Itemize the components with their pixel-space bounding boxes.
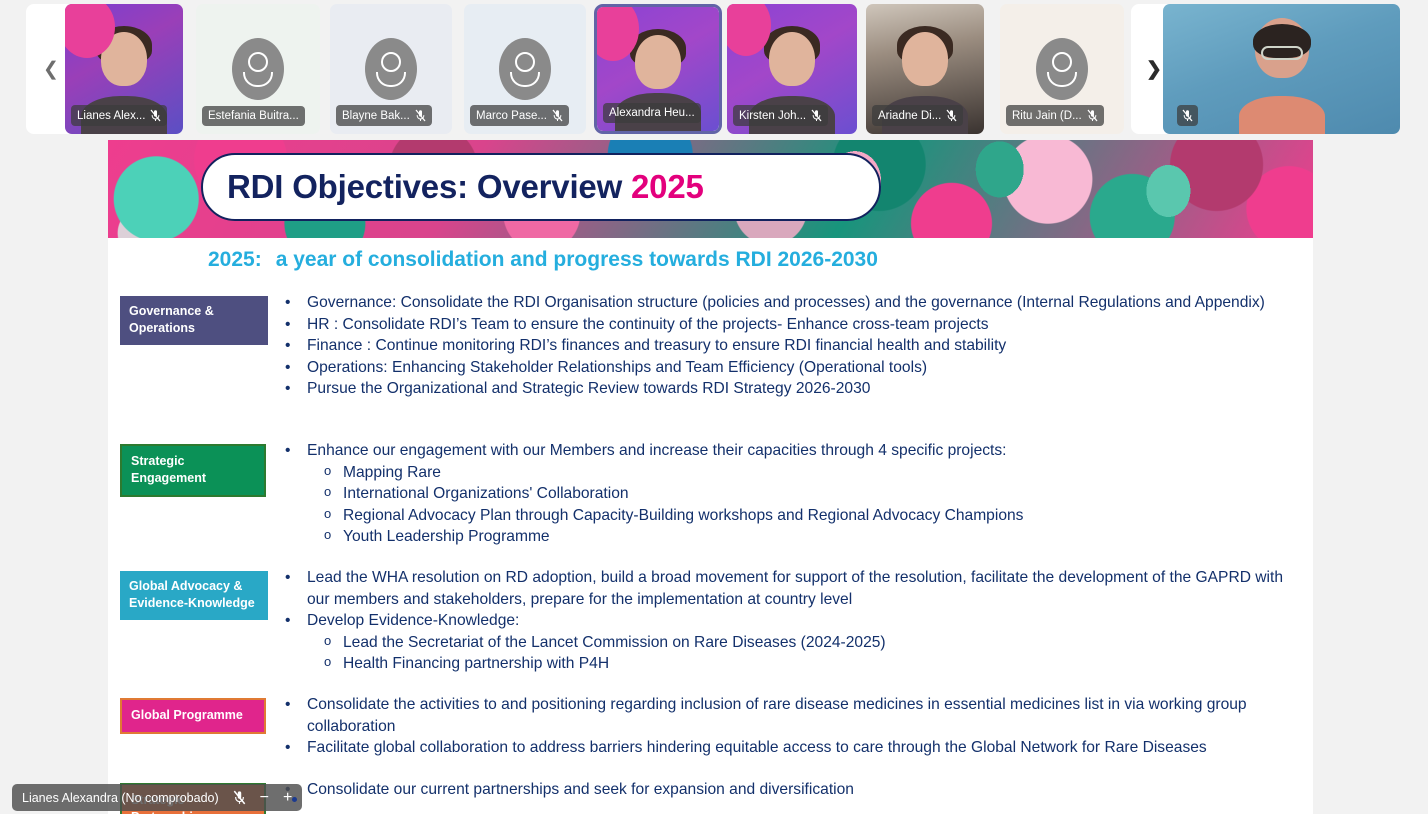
participant-name: Ritu Jain (D...: [1012, 110, 1082, 122]
bullet-item: •Operations: Enhancing Stakeholder Relat…: [281, 357, 1293, 379]
subtitle-text: a year of consolidation and progress tow…: [276, 248, 878, 272]
bullet-item: •HR : Consolidate RDI’s Team to ensure t…: [281, 314, 1293, 336]
overlay-participant-name: Lianes Alexandra (No comprobado): [22, 791, 219, 805]
bullet-marker: •: [281, 335, 307, 357]
slide-section: Global Programme•Consolidate the activit…: [108, 682, 1313, 767]
section-tag-label: Global Programme: [120, 698, 266, 734]
bullet-item: •Consolidate our current partnerships an…: [281, 779, 1293, 801]
participant-tile[interactable]: Alexandra Heu...: [594, 4, 722, 134]
participant-name-badge: Ariadne Di...: [872, 105, 963, 126]
bullet-text: International Organizations' Collaborati…: [343, 483, 1293, 505]
bullet-marker: •: [281, 610, 307, 632]
bullet-item: •Lead the WHA resolution on RD adoption,…: [281, 567, 1293, 610]
section-bullet-list: •Consolidate our current partnerships an…: [281, 767, 1313, 814]
mic-off-icon: [1182, 109, 1193, 122]
person-icon: [365, 38, 417, 100]
mic-off-icon: [415, 109, 426, 122]
bullet-item: •Finance : Continue monitoring RDI’s fin…: [281, 335, 1293, 357]
participant-name: Kirsten Joh...: [739, 110, 806, 122]
section-bullet-list: •Governance: Consolidate the RDI Organis…: [281, 280, 1313, 428]
bullet-text: Finance : Continue monitoring RDI’s fina…: [307, 335, 1293, 357]
bullet-item: oMapping Rare: [281, 462, 1293, 484]
person-icon: [1036, 38, 1088, 100]
mic-off-icon: [1087, 109, 1098, 122]
bullet-marker: •: [281, 378, 307, 400]
section-tag-label: Global Advocacy & Evidence-Knowledge: [120, 571, 268, 620]
participant-name-badge: Lianes Alex...: [71, 105, 167, 126]
bullet-text: Facilitate global collaboration to addre…: [307, 737, 1293, 759]
bullet-text: Consolidate the activities to and positi…: [307, 694, 1293, 737]
bullet-marker: o: [320, 632, 343, 654]
slide-title-card: RDI Objectives: Overview 2025: [201, 153, 881, 221]
participant-name: Marco Pase...: [476, 110, 547, 122]
participant-face: [902, 32, 948, 86]
bullet-marker: o: [320, 653, 343, 675]
bullet-marker: o: [320, 526, 343, 548]
participant-name: Lianes Alex...: [77, 110, 145, 122]
section-bullet-list: •Consolidate the activities to and posit…: [281, 682, 1313, 767]
bullet-item: oInternational Organizations' Collaborat…: [281, 483, 1293, 505]
mic-off-icon: [811, 109, 822, 122]
featured-video-feed: [1163, 4, 1400, 134]
participant-name-badge: Marco Pase...: [470, 105, 569, 126]
participant-face: [769, 32, 815, 86]
bullet-item: oHealth Financing partnership with P4H: [281, 653, 1293, 675]
participant-tile[interactable]: Ritu Jain (D...: [1000, 4, 1124, 134]
participant-tile[interactable]: Blayne Bak...: [330, 4, 452, 134]
page-title: RDI Objectives: Overview 2025: [227, 168, 704, 206]
slide-section: Strategic Engagement•Enhance our engagem…: [108, 428, 1313, 555]
section-tag-column: Global Advocacy & Evidence-Knowledge: [108, 555, 281, 682]
section-tag-column: Governance & Operations: [108, 280, 281, 428]
bullet-text: HR : Consolidate RDI’s Team to ensure th…: [307, 314, 1293, 336]
participant-name-badge: Estefania Buitra...: [202, 106, 305, 126]
featured-participant-tile[interactable]: [1163, 4, 1400, 134]
zoom-in-button[interactable]: +: [283, 790, 292, 806]
bullet-text: Lead the WHA resolution on RD adoption, …: [307, 567, 1293, 610]
participant-name: Blayne Bak...: [342, 110, 410, 122]
bullet-text: Consolidate our current partnerships and…: [307, 779, 1293, 801]
participant-name: Ariadne Di...: [878, 110, 941, 122]
bullet-marker: •: [281, 567, 307, 610]
bullet-text: Mapping Rare: [343, 462, 1293, 484]
participant-name-badge: Blayne Bak...: [336, 105, 432, 126]
participant-tile[interactable]: Lianes Alex...: [65, 4, 183, 134]
bullet-marker: •: [281, 440, 307, 462]
participant-name: Alexandra Heu...: [609, 107, 695, 119]
bullet-text: Youth Leadership Programme: [343, 526, 1293, 548]
cursor-indicator: [292, 797, 297, 802]
mic-off-icon: [946, 109, 957, 122]
slide-section: Governance & Operations•Governance: Cons…: [108, 280, 1313, 428]
participant-tile[interactable]: Marco Pase...: [464, 4, 586, 134]
bullet-item: oYouth Leadership Programme: [281, 526, 1293, 548]
bullet-text: Enhance our engagement with our Members …: [307, 440, 1293, 462]
presentation-slide[interactable]: RDI Objectives: Overview 2025 2025: a ye…: [108, 140, 1313, 814]
bullet-text: Lead the Secretariat of the Lancet Commi…: [343, 632, 1293, 654]
slide-content-sections: Governance & Operations•Governance: Cons…: [108, 280, 1313, 814]
section-bullet-list: •Enhance our engagement with our Members…: [281, 428, 1313, 555]
bullet-item: •Develop Evidence-Knowledge:: [281, 610, 1293, 632]
bullet-item: •Consolidate the activities to and posit…: [281, 694, 1293, 737]
bullet-text: Health Financing partnership with P4H: [343, 653, 1293, 675]
participant-tile[interactable]: Estefania Buitra...: [196, 4, 320, 134]
participant-overlay-toolbar: Lianes Alexandra (No comprobado) − +: [12, 784, 302, 811]
bullet-item: •Governance: Consolidate the RDI Organis…: [281, 292, 1293, 314]
bullet-item: oLead the Secretariat of the Lancet Comm…: [281, 632, 1293, 654]
mic-off-icon: [552, 109, 563, 122]
person-icon: [499, 38, 551, 100]
slide-section: Global Advocacy & Evidence-Knowledge•Lea…: [108, 555, 1313, 682]
bullet-text: Pursue the Organizational and Strategic …: [307, 378, 1293, 400]
bullet-marker: •: [281, 357, 307, 379]
participant-tile[interactable]: Ariadne Di...: [866, 4, 984, 134]
mic-off-icon: [150, 109, 161, 122]
section-tag-column: Global Programme: [108, 682, 281, 767]
video-participant-strip: ❮ Lianes Alex...Estefania Buitra...Blayn…: [0, 0, 1428, 138]
bullet-text: Operations: Enhancing Stakeholder Relati…: [307, 357, 1293, 379]
participant-name: Estefania Buitra...: [208, 110, 299, 122]
section-tag-label: Governance & Operations: [120, 296, 268, 345]
participant-face: [635, 35, 681, 89]
bullet-marker: •: [281, 737, 307, 759]
bullet-item: •Facilitate global collaboration to addr…: [281, 737, 1293, 759]
bullet-text: Develop Evidence-Knowledge:: [307, 610, 1293, 632]
bullet-marker: •: [281, 694, 307, 737]
title-year-text: 2025: [631, 168, 704, 205]
bullet-marker: o: [320, 462, 343, 484]
participant-name-badge: Ritu Jain (D...: [1006, 105, 1104, 126]
zoom-out-button[interactable]: −: [260, 790, 269, 806]
bullet-item: •Enhance our engagement with our Members…: [281, 440, 1293, 462]
person-icon: [232, 38, 284, 100]
bullet-item: •Pursue the Organizational and Strategic…: [281, 378, 1293, 400]
section-bullet-list: •Lead the WHA resolution on RD adoption,…: [281, 555, 1313, 682]
section-tag-column: Strategic Engagement: [108, 428, 281, 555]
participant-tile[interactable]: Kirsten Joh...: [727, 4, 857, 134]
participant-name-badge: Kirsten Joh...: [733, 105, 828, 126]
section-tag-label: Strategic Engagement: [120, 444, 266, 497]
bullet-marker: o: [320, 505, 343, 527]
bullet-item: oRegional Advocacy Plan through Capacity…: [281, 505, 1293, 527]
participant-name-badge: Alexandra Heu...: [603, 103, 701, 123]
subtitle-year: 2025:: [208, 248, 262, 272]
bullet-text: Governance: Consolidate the RDI Organisa…: [307, 292, 1293, 314]
bullet-text: Regional Advocacy Plan through Capacity-…: [343, 505, 1293, 527]
mic-off-icon[interactable]: [233, 790, 246, 805]
participant-face: [101, 32, 147, 86]
title-main-text: RDI Objectives: Overview: [227, 168, 631, 205]
bullet-marker: •: [281, 292, 307, 314]
featured-tile-mute-badge: [1177, 105, 1198, 126]
bullet-marker: •: [281, 314, 307, 336]
slide-subtitle: 2025: a year of consolidation and progre…: [208, 248, 878, 272]
bullet-marker: o: [320, 483, 343, 505]
